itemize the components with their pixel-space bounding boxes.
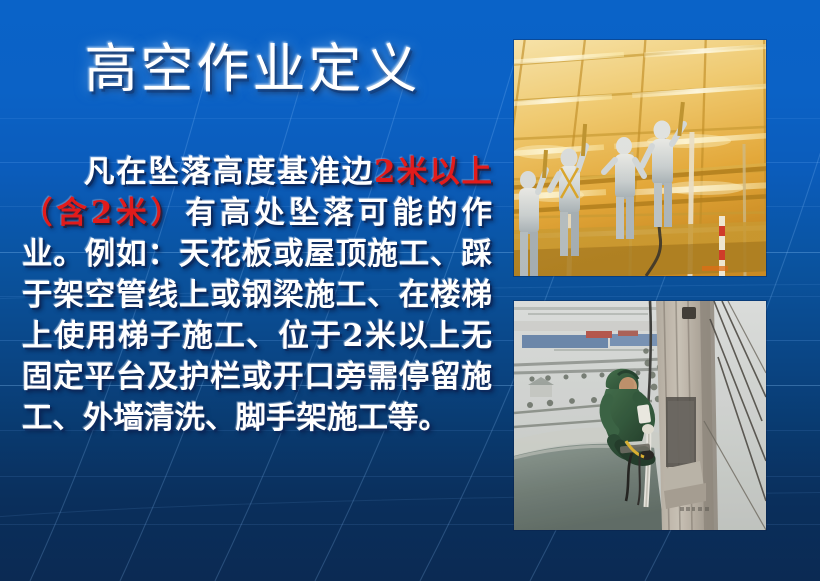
image-rope-suspended-worker — [514, 301, 766, 530]
slide-title: 高空作业定义 — [0, 38, 505, 102]
presentation-slide: 高空作业定义 凡在坠落高度基准边2米以上（含2米）有高处坠落可能的作业。例如：天… — [0, 0, 820, 581]
body-segment-2: 有高处坠落可能的作业。例如：天花板或屋顶施工、踩于架空管线上或钢梁施工、在楼梯上… — [22, 195, 492, 436]
body-segment-highlight-1: 2米 — [374, 154, 429, 190]
body-segment-1: 凡在坠落高度基准边 — [84, 154, 374, 190]
slide-body-text: 凡在坠落高度基准边2米以上（含2米）有高处坠落可能的作业。例如：天花板或屋顶施工… — [22, 152, 492, 439]
image-ceiling-scaffold-workers — [514, 40, 766, 276]
